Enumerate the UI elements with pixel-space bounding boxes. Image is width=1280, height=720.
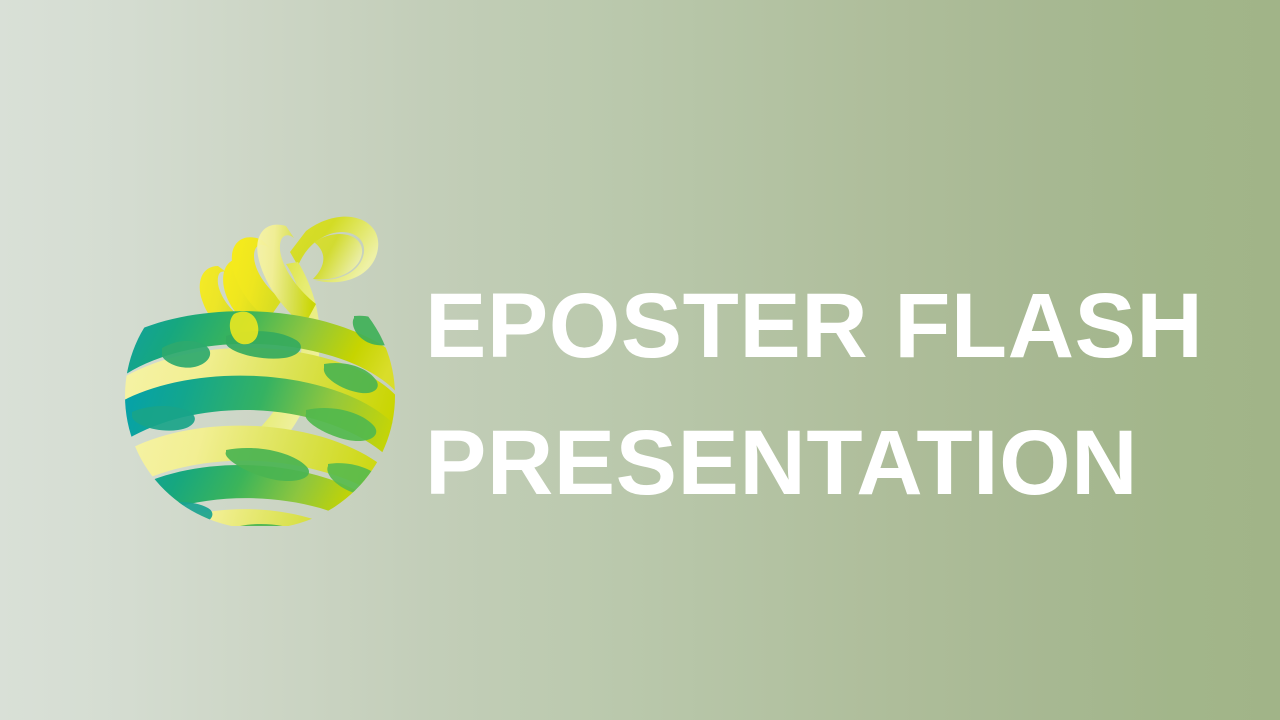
- page-title: EPOSTER FLASH PRESENTATION: [425, 258, 1215, 532]
- globe-ribbon-logo: [110, 196, 410, 526]
- title-slide: EPOSTER FLASH PRESENTATION: [0, 0, 1280, 720]
- title-line-1: EPOSTER FLASH: [425, 258, 1215, 395]
- globe-ribbon-logo-svg: [110, 196, 410, 526]
- globe-ribbon-bands: [110, 217, 410, 526]
- landmass-lower-left: [150, 502, 212, 526]
- title-line-2: PRESENTATION: [425, 395, 1215, 532]
- globe-band-6: [144, 509, 380, 526]
- globe-spiral-bands: [110, 311, 410, 526]
